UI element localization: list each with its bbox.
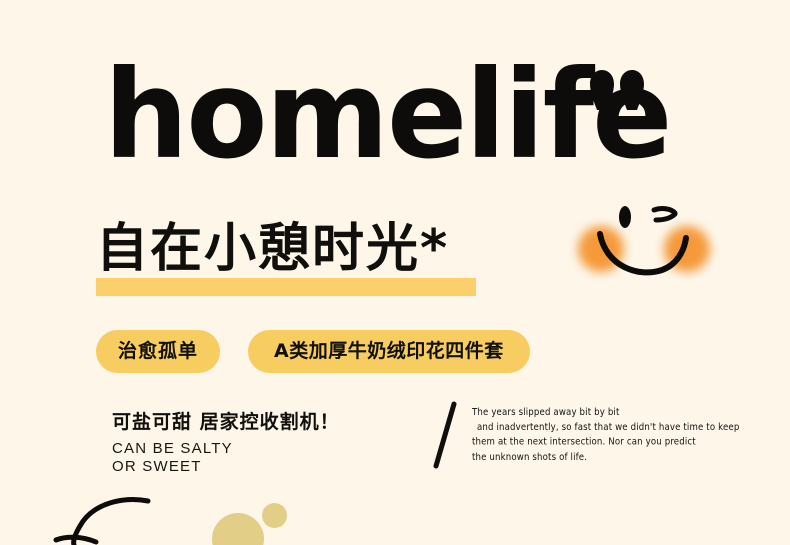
note-line-4: the unknown shots of life. xyxy=(472,451,702,466)
tagline-highlight-bar xyxy=(96,278,476,296)
copy-en-block: CAN BE SALTY OR SWEET xyxy=(112,440,340,476)
note-line-2: and inadvertently, so fast that we didn'… xyxy=(472,421,702,436)
tagline-block: 自在小憩时光* xyxy=(96,218,449,296)
decorative-dot-small xyxy=(262,503,287,528)
handwritten-note: The years slipped away bit by bit and in… xyxy=(472,406,702,465)
badge-healing[interactable]: 治愈孤单 xyxy=(96,330,220,373)
brand-headline: homelife xyxy=(104,54,670,176)
note-line-3: them at the next intersection. Nor can y… xyxy=(472,436,702,451)
copy-block: 可盐可甜 居家控收割机！ CAN BE SALTY OR SWEET xyxy=(112,409,340,476)
badge-product-spec[interactable]: A类加厚牛奶绒印花四件套 xyxy=(248,330,530,373)
diagonal-slash-icon xyxy=(431,401,461,469)
double-quote-icon xyxy=(589,68,645,120)
poster-canvas: homelife 自在小憩时光* 治愈孤单 A类加厚牛奶绒印花四件套 可盐可甜 … xyxy=(0,0,790,545)
winking-smiley-icon xyxy=(576,190,712,290)
decorative-dot-large xyxy=(212,513,264,545)
copy-en-line2: OR SWEET xyxy=(112,458,340,476)
note-line-1: The years slipped away bit by bit xyxy=(472,406,702,421)
copy-en-line1: CAN BE SALTY xyxy=(112,440,340,458)
curved-stem-doodle-icon xyxy=(52,484,152,545)
badge-row: 治愈孤单 A类加厚牛奶绒印花四件套 xyxy=(96,330,530,373)
copy-cn-headline: 可盐可甜 居家控收割机！ xyxy=(112,409,340,435)
tagline-text: 自在小憩时光* xyxy=(96,218,449,280)
